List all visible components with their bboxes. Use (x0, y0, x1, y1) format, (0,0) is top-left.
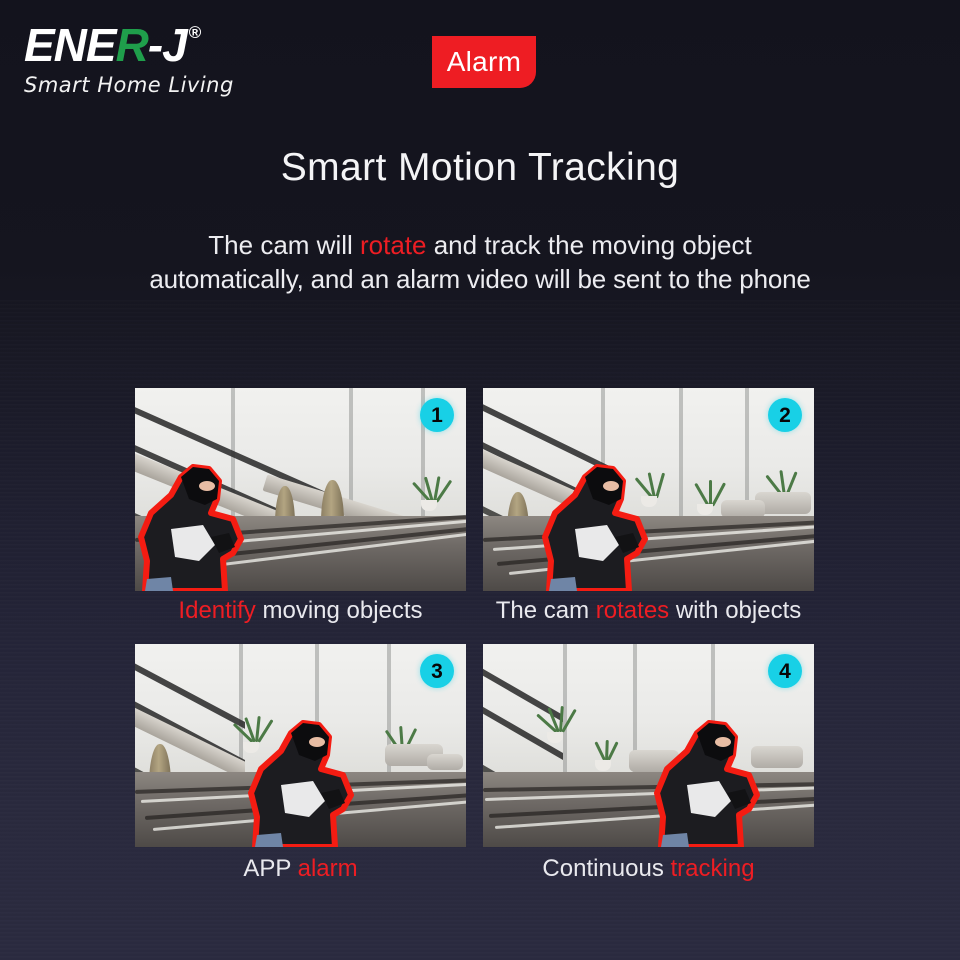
step-number: 2 (779, 405, 791, 426)
subtitle-line2: automatically, and an alarm video will b… (0, 262, 960, 296)
brand-logo: ENER-J® Smart Home Living (24, 22, 294, 98)
panel-2-caption: The cam rotates with objects (453, 595, 844, 627)
subtitle-highlight: rotate (360, 230, 427, 260)
promo-page: ENER-J® Smart Home Living Alarm Smart Mo… (0, 0, 960, 960)
step-number-badge: 3 (420, 654, 454, 688)
caption-text-before: The cam (496, 597, 596, 624)
alarm-badge-label: Alarm (447, 48, 522, 76)
alarm-badge: Alarm (432, 36, 536, 88)
step-number: 3 (431, 661, 443, 682)
page-title: Smart Motion Tracking (0, 143, 960, 193)
panel-1: 1 Identify moving objects (135, 388, 466, 591)
step-number-badge: 2 (768, 398, 802, 432)
panel-3: 3 APP alarm (135, 644, 466, 847)
logo-wordmark: ENER-J® (24, 22, 294, 68)
logo-text-r: R (116, 22, 148, 68)
panel-3-caption: APP alarm (105, 853, 496, 885)
step-number-badge: 4 (768, 654, 802, 688)
scene-illustration: 3 (135, 644, 466, 847)
logo-text-j: -J (148, 22, 187, 68)
caption-text-before: Continuous (542, 855, 670, 882)
caption-highlight: rotates (596, 597, 669, 624)
panel-grid: 1 Identify moving objects (135, 388, 818, 871)
caption-text-after: with objects (669, 597, 801, 624)
intruder-figure (541, 441, 659, 591)
subtitle-text-after: and track the moving object (427, 230, 752, 260)
panel-4: 4 Continuous tracking (483, 644, 814, 847)
page-subtitle: The cam will rotate and track the moving… (0, 228, 960, 296)
caption-highlight: tracking (671, 855, 755, 882)
sofa (427, 754, 463, 770)
intruder-figure (247, 697, 365, 847)
page-header: ENER-J® Smart Home Living Alarm (0, 0, 960, 120)
intruder-figure (653, 697, 771, 847)
caption-text: moving objects (256, 597, 423, 624)
registered-trademark-icon: ® (189, 24, 201, 41)
step-number: 4 (779, 661, 791, 682)
scene-illustration: 2 (483, 388, 814, 591)
panel-4-photo: 4 (483, 644, 814, 847)
step-number-badge: 1 (420, 398, 454, 432)
panel-1-caption: Identify moving objects (105, 595, 496, 627)
subtitle-text-before: The cam will (208, 230, 360, 260)
logo-text-ene: ENE (24, 22, 116, 68)
logo-tagline: Smart Home Living (24, 72, 294, 98)
scene-illustration: 1 (135, 388, 466, 591)
panel-4-caption: Continuous tracking (453, 853, 844, 885)
panel-3-photo: 3 (135, 644, 466, 847)
step-number: 1 (431, 405, 443, 426)
panel-2: 2 The cam rotates with objects (483, 388, 814, 591)
caption-highlight: alarm (298, 855, 358, 882)
panel-1-photo: 1 (135, 388, 466, 591)
intruder-figure (137, 441, 255, 591)
caption-highlight: Identify (178, 597, 255, 624)
caption-text-before: APP (243, 855, 297, 882)
subtitle-line1: The cam will rotate and track the moving… (208, 230, 751, 260)
panel-2-photo: 2 (483, 388, 814, 591)
scene-illustration: 4 (483, 644, 814, 847)
